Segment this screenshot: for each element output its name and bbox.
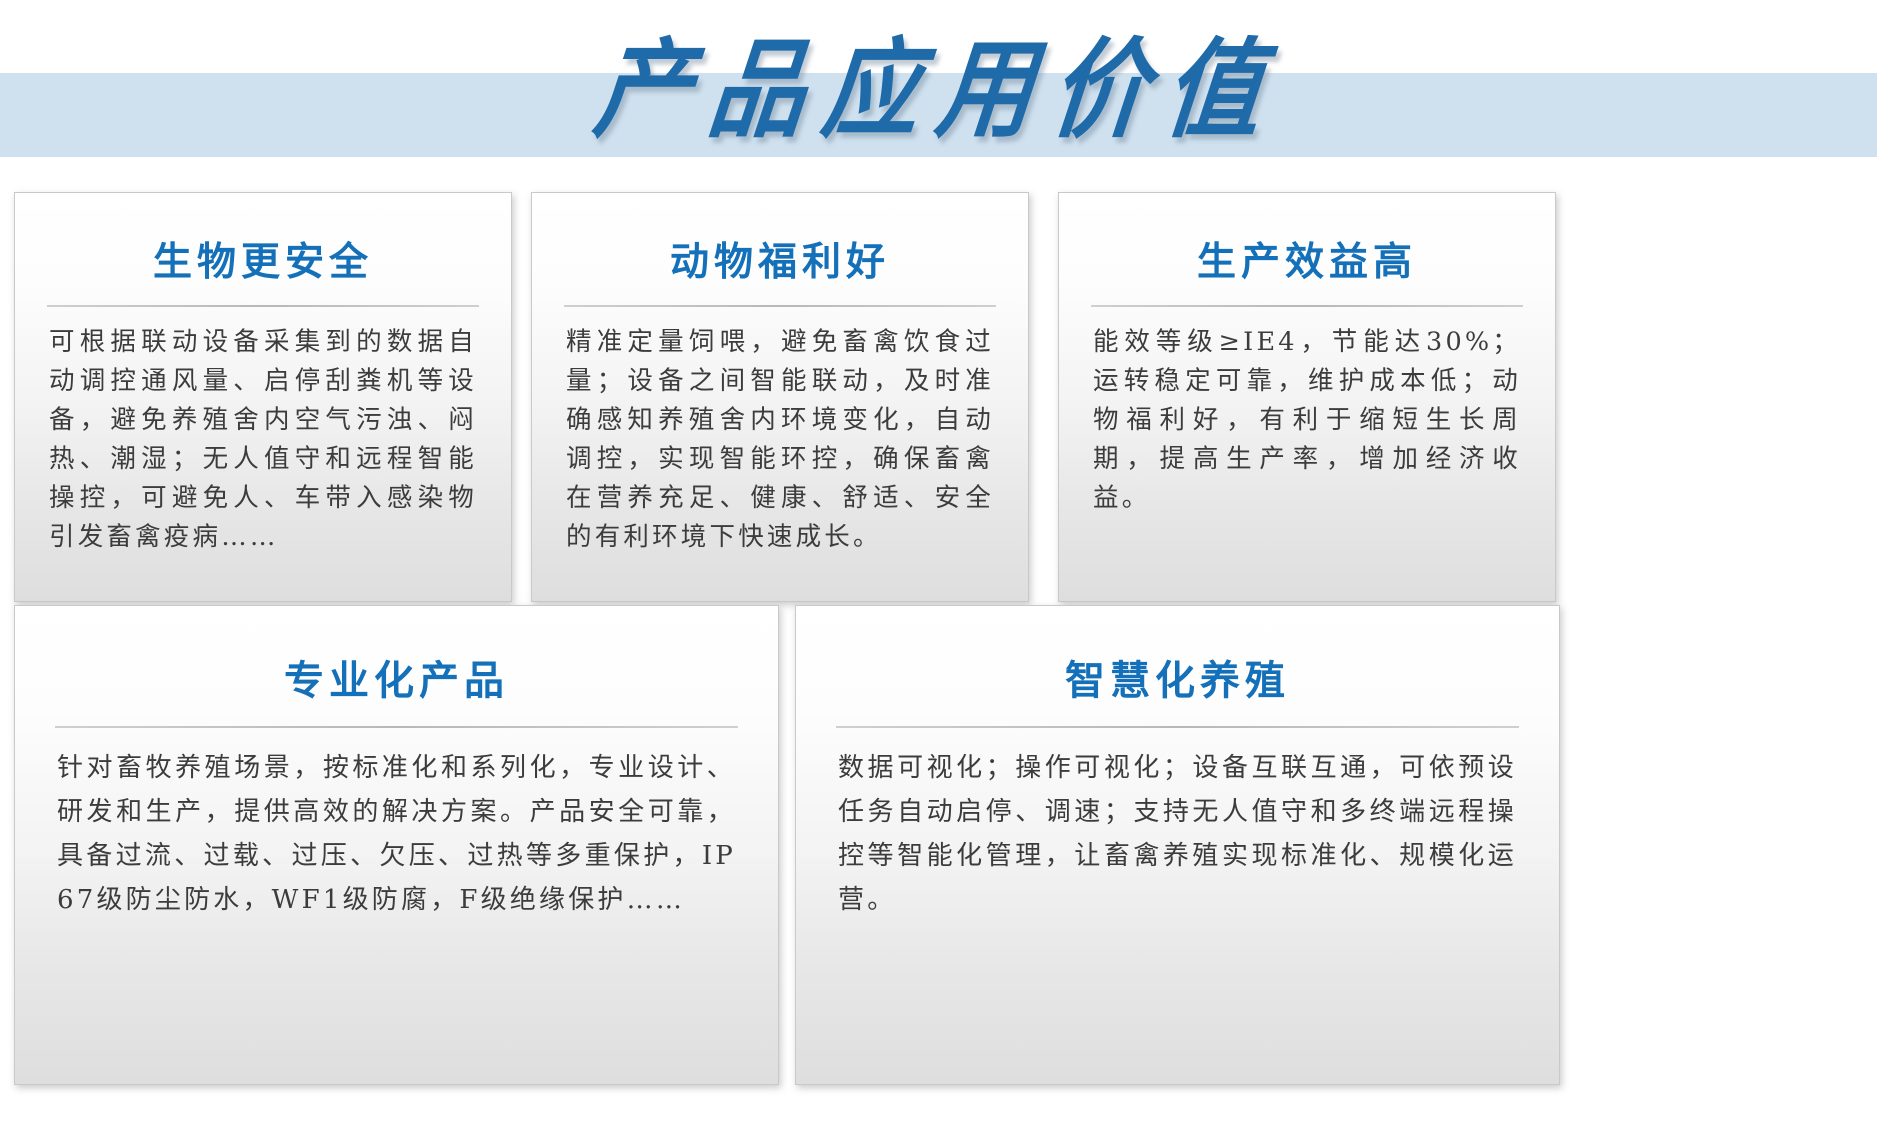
value-card-production-efficiency: 生产效益高 能效等级≥IE4，节能达30%；运转稳定可靠，维护成本低；动物福利好… — [1058, 192, 1556, 602]
card-title: 生产效益高 — [1059, 193, 1555, 293]
card-body-text: 精准定量饲喂，避免畜禽饮食过量；设备之间智能联动，及时准确感知养殖舍内环境变化，… — [532, 307, 1028, 557]
page-title: 产品应用价值 — [0, 0, 1877, 170]
card-body-text: 数据可视化；操作可视化；设备互联互通，可依预设任务自动启停、调速；支持无人值守和… — [796, 728, 1559, 922]
value-card-professional-product: 专业化产品 针对畜牧养殖场景，按标准化和系列化，专业设计、研发和生产，提供高效的… — [14, 605, 779, 1085]
value-cards-grid: 生物更安全 可根据联动设备采集到的数据自动调控通风量、启停刮粪机等设备，避免养殖… — [0, 175, 1877, 1126]
value-card-smart-farming: 智慧化养殖 数据可视化；操作可视化；设备互联互通，可依预设任务自动启停、调速；支… — [795, 605, 1560, 1085]
value-card-animal-welfare: 动物福利好 精准定量饲喂，避免畜禽饮食过量；设备之间智能联动，及时准确感知养殖舍… — [531, 192, 1029, 602]
card-title: 生物更安全 — [15, 193, 511, 293]
card-title: 动物福利好 — [532, 193, 1028, 293]
page-header: 产品应用价值 — [0, 0, 1877, 175]
card-body-text: 针对畜牧养殖场景，按标准化和系列化，专业设计、研发和生产，提供高效的解决方案。产… — [15, 728, 778, 922]
card-body-text: 可根据联动设备采集到的数据自动调控通风量、启停刮粪机等设备，避免养殖舍内空气污浊… — [15, 307, 511, 557]
card-title: 专业化产品 — [15, 606, 778, 712]
card-body-text: 能效等级≥IE4，节能达30%；运转稳定可靠，维护成本低；动物福利好，有利于缩短… — [1059, 307, 1555, 518]
card-title: 智慧化养殖 — [796, 606, 1559, 712]
value-card-biosecurity: 生物更安全 可根据联动设备采集到的数据自动调控通风量、启停刮粪机等设备，避免养殖… — [14, 192, 512, 602]
